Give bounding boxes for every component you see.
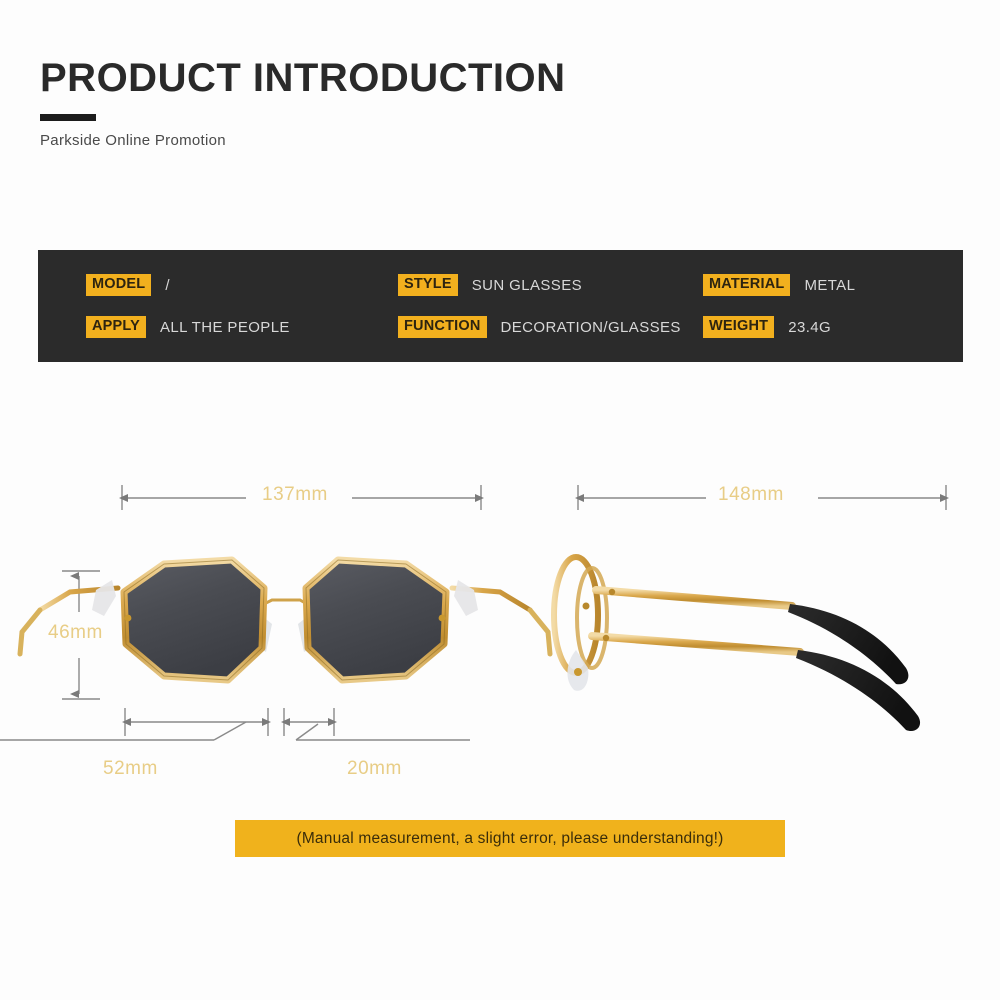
dimension-label-front-width: 137mm bbox=[262, 484, 328, 506]
manual-measurement-note-text: (Manual measurement, a slight error, ple… bbox=[296, 830, 723, 848]
product-dimension-diagram: 137mm 148mm 46mm 52mm 20mm bbox=[0, 440, 1000, 800]
title-underline-rule bbox=[40, 114, 96, 121]
spec-value-function: DECORATION/GLASSES bbox=[501, 319, 681, 336]
spec-item-weight: WEIGHT 23.4G bbox=[703, 314, 831, 340]
spec-value-material: METAL bbox=[804, 277, 855, 294]
spec-value-model: / bbox=[165, 277, 170, 294]
spec-label-material: MATERIAL bbox=[703, 274, 790, 296]
spec-row: MODEL / STYLE SUN GLASSES MATERIAL METAL bbox=[38, 272, 963, 298]
specification-panel: MODEL / STYLE SUN GLASSES MATERIAL METAL… bbox=[38, 250, 963, 362]
spec-label-apply: APPLY bbox=[86, 316, 146, 338]
diagram-graphics bbox=[0, 440, 1000, 800]
spec-row: APPLY ALL THE PEOPLE FUNCTION DECORATION… bbox=[38, 314, 963, 340]
spec-value-style: SUN GLASSES bbox=[472, 277, 582, 294]
sunglasses-side-view bbox=[554, 557, 920, 731]
dimension-label-lens-height: 46mm bbox=[48, 622, 103, 644]
spec-label-style: STYLE bbox=[398, 274, 458, 296]
left-lens bbox=[124, 560, 264, 680]
spec-label-model: MODEL bbox=[86, 274, 151, 296]
spec-item-function: FUNCTION DECORATION/GLASSES bbox=[398, 314, 681, 340]
sunglasses-front-view bbox=[20, 560, 550, 680]
spec-label-weight: WEIGHT bbox=[703, 316, 774, 338]
manual-measurement-note: (Manual measurement, a slight error, ple… bbox=[235, 820, 785, 857]
spec-value-weight: 23.4G bbox=[788, 319, 831, 336]
spec-label-function: FUNCTION bbox=[398, 316, 487, 338]
dimension-label-temple-length: 148mm bbox=[718, 484, 784, 506]
page-title: PRODUCT INTRODUCTION bbox=[40, 58, 940, 98]
dimension-label-lens-width: 52mm bbox=[103, 758, 158, 780]
spec-item-material: MATERIAL METAL bbox=[703, 272, 855, 298]
dimension-label-bridge-width: 20mm bbox=[347, 758, 402, 780]
right-lens bbox=[306, 560, 446, 680]
dimension-lens-and-bridge bbox=[0, 708, 470, 740]
spec-value-apply: ALL THE PEOPLE bbox=[160, 319, 290, 336]
page-header: PRODUCT INTRODUCTION Parkside Online Pro… bbox=[40, 58, 940, 149]
spec-item-model: MODEL / bbox=[86, 272, 170, 298]
spec-item-apply: APPLY ALL THE PEOPLE bbox=[86, 314, 290, 340]
page-subtitle: Parkside Online Promotion bbox=[40, 132, 940, 149]
spec-item-style: STYLE SUN GLASSES bbox=[398, 272, 582, 298]
